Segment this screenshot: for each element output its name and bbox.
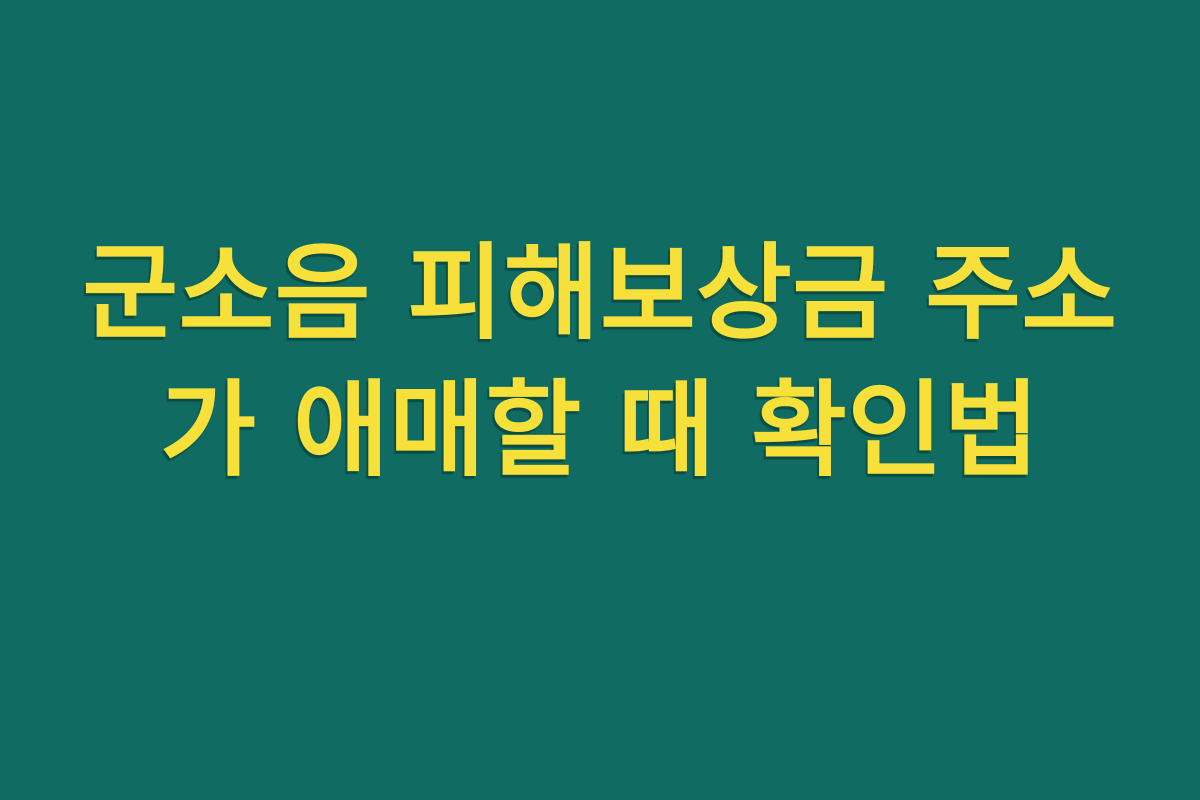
headline-line-2: 가 애매할 때 확인법 [40,362,1160,499]
headline-block: 군소음 피해보상금 주소 가 애매할 때 확인법 [40,225,1160,499]
poster-canvas: 군소음 피해보상금 주소 가 애매할 때 확인법 [0,0,1200,800]
headline-line-1: 군소음 피해보상금 주소 [40,225,1160,362]
